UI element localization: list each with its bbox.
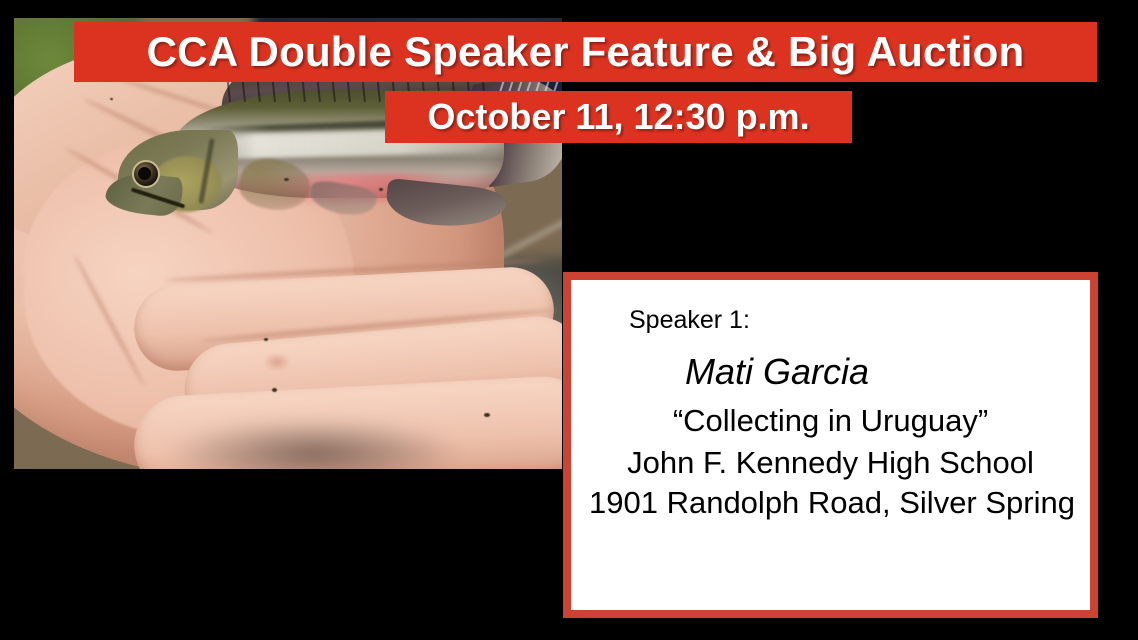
photo-debris-speck [379, 188, 383, 191]
speaker-info-card: Speaker 1: Mati Garcia “Collecting in Ur… [563, 272, 1098, 618]
date-banner-text: October 11, 12:30 p.m. [427, 96, 809, 138]
fish-in-hand-photo [14, 18, 562, 469]
speaker-name: Mati Garcia [685, 351, 1072, 393]
photo-debris-speck [110, 98, 113, 100]
photo-debris-speck [272, 388, 277, 392]
speaker-label: Speaker 1: [629, 306, 1072, 335]
venue-name: John F. Kennedy High School [589, 445, 1072, 481]
speaker-info-card-inner: Speaker 1: Mati Garcia “Collecting in Ur… [571, 280, 1090, 610]
photo-debris-speck [484, 413, 490, 417]
photo-debris-speck [284, 178, 289, 181]
title-banner-text: CCA Double Speaker Feature & Big Auction [147, 28, 1025, 76]
event-poster: CCA Double Speaker Feature & Big Auction… [0, 0, 1138, 640]
photo-debris-speck [264, 338, 268, 341]
hand-shadow [164, 418, 464, 469]
venue-address: 1901 Randolph Road, Silver Spring [589, 485, 1072, 521]
talk-title: “Collecting in Uruguay” [589, 403, 1072, 439]
title-banner: CCA Double Speaker Feature & Big Auction [74, 22, 1097, 82]
hand-knuckle [264, 353, 290, 371]
date-banner: October 11, 12:30 p.m. [385, 91, 852, 143]
fish-pupil [138, 167, 151, 180]
